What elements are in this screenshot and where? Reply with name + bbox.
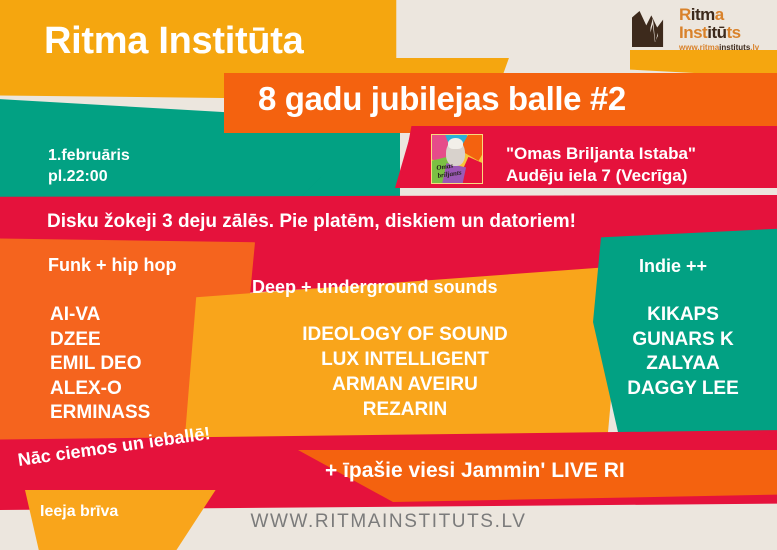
special-guests-text: + īpašie viesi Jammin' LIVE RI <box>325 459 625 483</box>
headline-text: Disku žokeji 3 deju zālēs. Pie platēm, d… <box>47 211 576 233</box>
logo-url-d: .lv <box>750 43 759 52</box>
logo-line1-a: R <box>679 5 691 24</box>
event-date-time: 1.februāris pl.22:00 <box>48 145 130 187</box>
logo-wordmark: Ritma Institūts www.ritmainstituts.lv <box>679 6 759 52</box>
logo-line2-a: Inst <box>679 23 707 42</box>
venue-logo-icon: Omas briljants <box>431 134 483 184</box>
stage-lineup-deep: IDEOLOGY OF SOUND LUX INTELLIGENT ARMAN … <box>285 322 525 422</box>
stage-genre-indie: Indie ++ <box>639 256 707 277</box>
logo-url: www.ritmainstituts.lv <box>679 44 759 52</box>
logo-line2-b: itū <box>707 23 726 42</box>
page-subtitle: 8 gadu jubilejas balle #2 <box>258 80 626 118</box>
logo-line1-c: a <box>715 5 724 24</box>
amber-band-right-cap <box>630 50 777 78</box>
event-poster: Ritma Institūts www.ritmainstituts.lv Ri… <box>0 0 777 550</box>
teal-shape-lower-wedge <box>120 148 350 210</box>
teal-shape-upper-left-fill <box>0 120 280 210</box>
logo-line-2: Institūts <box>679 24 759 41</box>
ritma-waveform-icon <box>632 11 674 47</box>
logo-url-a: www. <box>679 43 700 52</box>
logo-url-c: instituts <box>719 43 750 52</box>
orange-title-band-tail <box>735 73 777 141</box>
stage-genre-funk: Funk + hip hop <box>48 255 177 276</box>
logo-line-1: Ritma <box>679 6 759 23</box>
logo-line2-c: ts <box>727 23 741 42</box>
come-visit-tagline: Nāc ciemos un ieballē! <box>17 423 212 471</box>
ritma-instituts-logo[interactable]: Ritma Institūts www.ritmainstituts.lv <box>632 6 772 52</box>
stage-genre-deep: Deep + underground sounds <box>252 277 498 298</box>
venue-logo-figure-hair <box>448 138 463 149</box>
logo-url-b: ritma <box>700 43 720 52</box>
page-title: Ritma Institūta <box>44 20 303 63</box>
stage-lineup-indie: KIKAPS GUNARS K ZALYAA DAGGY LEE <box>603 303 763 401</box>
event-venue: "Omas Briljanta Istaba" Audēju iela 7 (V… <box>506 143 696 187</box>
website-url[interactable]: WWW.RITMAINSTITUTS.LV <box>0 511 777 533</box>
logo-line1-b: itm <box>691 5 715 24</box>
stage-lineup-funk: AI-VA DZEE EMIL DEO ALEX-O ERMINASS <box>50 303 150 426</box>
